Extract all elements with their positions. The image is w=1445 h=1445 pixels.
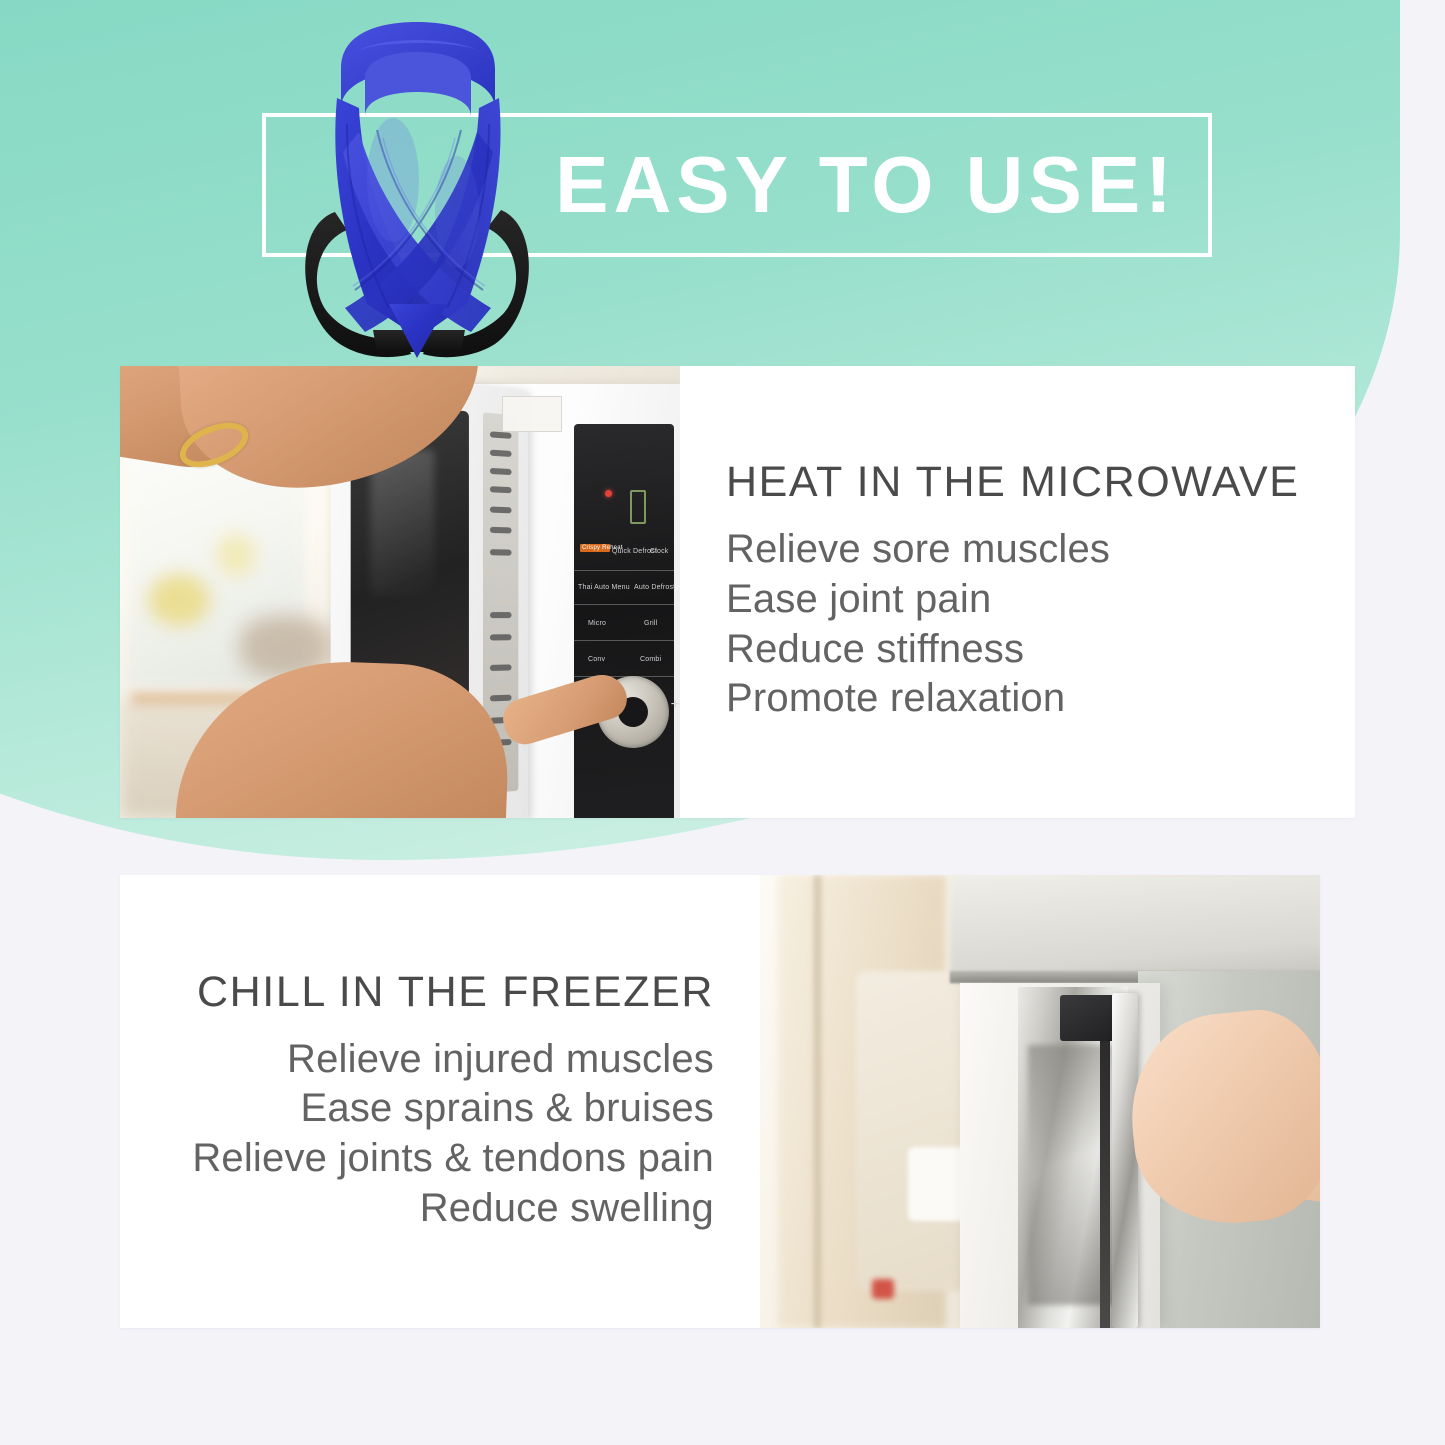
fridge-top-unit bbox=[950, 875, 1320, 983]
photo-freezer bbox=[760, 875, 1320, 1328]
cabinet-edge-line bbox=[814, 875, 821, 1328]
page-title: EASY TO USE! bbox=[520, 113, 1212, 257]
neck-wrap-illustration bbox=[285, 12, 550, 360]
infographic-poster: EASY TO USE! bbox=[0, 0, 1445, 1445]
interior-red-item bbox=[872, 1279, 894, 1299]
chill-copy-block: CHILL IN THE FREEZER Relieve injured mus… bbox=[120, 875, 760, 1328]
button-crispy-reheat: Crispy Reheat bbox=[580, 544, 610, 552]
benefit-item: Ease sprains & bruises bbox=[301, 1084, 714, 1134]
button-combi: Combi bbox=[640, 656, 661, 663]
panel-divider-2 bbox=[574, 604, 674, 605]
button-grill: Grill bbox=[644, 620, 657, 627]
button-clock: Clock bbox=[650, 548, 669, 555]
button-conv: Conv bbox=[588, 656, 605, 663]
status-led-icon bbox=[605, 490, 612, 497]
product-neck-wrap-image bbox=[285, 12, 550, 360]
background-bokeh-yellow-2 bbox=[216, 534, 256, 576]
interior-white-container bbox=[908, 1147, 968, 1221]
display-digit bbox=[630, 490, 646, 524]
freezer-door-handle[interactable] bbox=[1112, 993, 1138, 1328]
heat-copy-block: HEAT IN THE MICROWAVE Relieve sore muscl… bbox=[680, 366, 1355, 818]
button-auto-defrost: Auto Defrost bbox=[634, 584, 675, 591]
panel-divider-3 bbox=[574, 640, 674, 641]
benefit-item: Relieve injured muscles bbox=[287, 1035, 714, 1085]
freezer-scene bbox=[760, 875, 1320, 1328]
photo-microwave: Crispy Reheat Quick Defrost Clock Thai A… bbox=[120, 366, 680, 818]
button-micro: Micro bbox=[588, 620, 606, 627]
button-thai-auto-menu: Thai Auto Menu bbox=[578, 584, 630, 591]
knob-plus-icon: + bbox=[671, 696, 680, 714]
benefit-item: Reduce swelling bbox=[420, 1184, 714, 1234]
card-title-heat: HEAT IN THE MICROWAVE bbox=[726, 460, 1300, 505]
card-title-chill: CHILL IN THE FREEZER bbox=[197, 970, 714, 1015]
benefit-item: Relieve sore muscles bbox=[726, 525, 1110, 575]
benefit-item: Relieve joints & tendons pain bbox=[192, 1134, 714, 1184]
benefit-item: Ease joint pain bbox=[726, 575, 991, 625]
microwave-control-panel: Crispy Reheat Quick Defrost Clock Thai A… bbox=[574, 424, 674, 818]
panel-divider-1 bbox=[574, 570, 674, 571]
door-seam bbox=[1100, 1039, 1110, 1328]
benefit-item: Reduce stiffness bbox=[726, 625, 1024, 675]
microwave-spec-sticker bbox=[502, 396, 562, 432]
microwave-scene: Crispy Reheat Quick Defrost Clock Thai A… bbox=[120, 366, 680, 818]
card-chill-in-the-freezer: CHILL IN THE FREEZER Relieve injured mus… bbox=[120, 875, 1320, 1328]
benefit-item: Promote relaxation bbox=[726, 674, 1065, 724]
background-bokeh-yellow bbox=[148, 574, 210, 626]
card-heat-in-the-microwave: Crispy Reheat Quick Defrost Clock Thai A… bbox=[120, 366, 1355, 818]
